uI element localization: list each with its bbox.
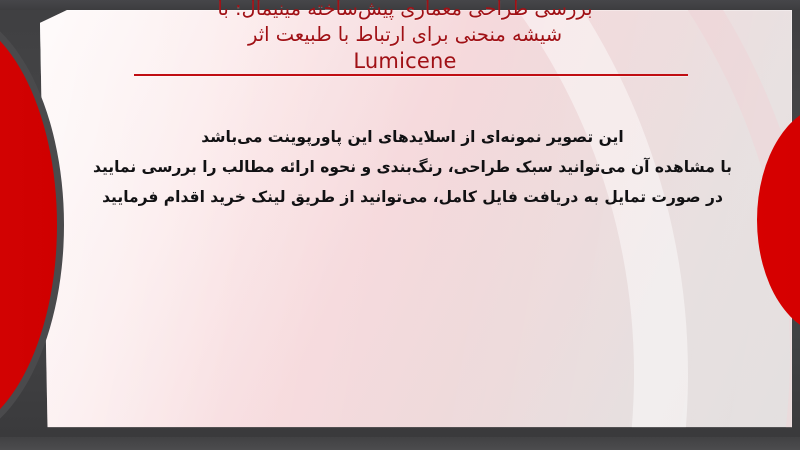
slide-bottom-border-strip — [0, 437, 800, 450]
title-divider-rule — [134, 74, 688, 76]
body-line-1: این تصویر نمونه‌ای از اسلایدهای این پاور… — [40, 122, 785, 152]
slide-title: بررسی طراحی معماری پیش‌ساخته مینیمال: با… — [110, 0, 700, 74]
presentation-slide: بررسی طراحی معماری پیش‌ساخته مینیمال: با… — [0, 0, 800, 450]
slide-title-line-2: شیشه منحنی برای ارتباط با طبیعت اثر — [110, 22, 700, 48]
body-line-2: با مشاهده آن می‌توانید سبک طراحی، رنگ‌بن… — [40, 152, 785, 182]
slide-title-brand: Lumicene — [110, 48, 700, 74]
body-line-3: در صورت تمایل به دریافت فایل کامل، می‌تو… — [40, 182, 785, 212]
slide-body-text: این تصویر نمونه‌ای از اسلایدهای این پاور… — [40, 122, 785, 212]
slide-title-line-1: بررسی طراحی معماری پیش‌ساخته مینیمال: با — [110, 0, 700, 22]
